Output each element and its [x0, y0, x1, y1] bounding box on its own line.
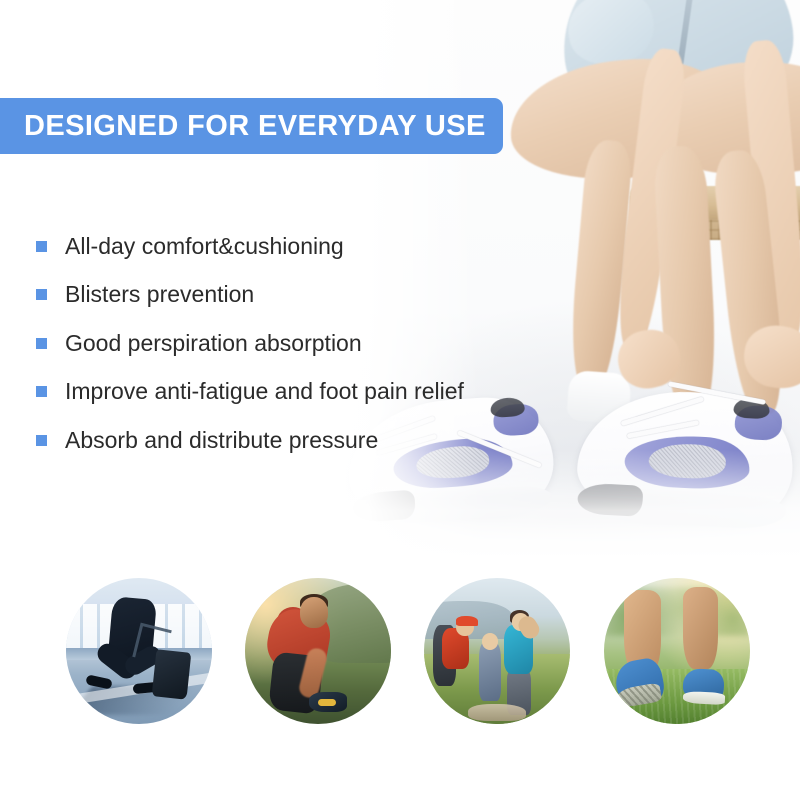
family-hiking-scene: [424, 578, 570, 724]
list-item: Good perspiration absorption: [36, 319, 556, 368]
bullet-square-icon: [36, 289, 47, 300]
business-scene: [66, 578, 212, 724]
feature-list: All-day comfort&cushioning Blisters prev…: [36, 222, 556, 465]
headline-banner: DESIGNED FOR EVERYDAY USE: [0, 98, 503, 154]
walking-scene: [604, 578, 750, 724]
feature-label: Absorb and distribute pressure: [65, 427, 378, 454]
feature-label: Blisters prevention: [65, 281, 254, 308]
usecase-thumbnail-row: [0, 578, 800, 728]
bullet-square-icon: [36, 435, 47, 446]
feature-label: Good perspiration absorption: [65, 330, 362, 357]
hiker-child: [479, 642, 501, 700]
list-item: Improve anti-fatigue and foot pain relie…: [36, 368, 556, 417]
list-item: Blisters prevention: [36, 271, 556, 320]
list-item: Absorb and distribute pressure: [36, 416, 556, 465]
thumbnail-family-hiking: [424, 578, 570, 724]
hero-bottom-fade: [330, 450, 800, 560]
page-title: DESIGNED FOR EVERYDAY USE: [24, 110, 486, 143]
runner-head: [300, 597, 328, 628]
runner-shoe-accent: [318, 699, 336, 706]
runner-scene: [245, 578, 391, 724]
list-item: All-day comfort&cushioning: [36, 222, 556, 271]
trail-rock: [468, 704, 526, 722]
child-head: [482, 633, 498, 649]
bullet-square-icon: [36, 338, 47, 349]
thumbnail-runner-tying-shoe: [245, 578, 391, 724]
walker-leg-far: [683, 587, 718, 669]
feature-label: All-day comfort&cushioning: [65, 233, 344, 260]
bullet-square-icon: [36, 386, 47, 397]
thumbnail-walking-on-grass: [604, 578, 750, 724]
red-cap: [456, 616, 478, 626]
rolling-suitcase: [151, 649, 191, 699]
feature-label: Improve anti-fatigue and foot pain relie…: [65, 378, 464, 405]
bullet-square-icon: [36, 241, 47, 252]
thumbnail-businessman-with-suitcase: [66, 578, 212, 724]
product-feature-banner: DESIGNED FOR EVERYDAY USE All-day comfor…: [0, 0, 800, 800]
